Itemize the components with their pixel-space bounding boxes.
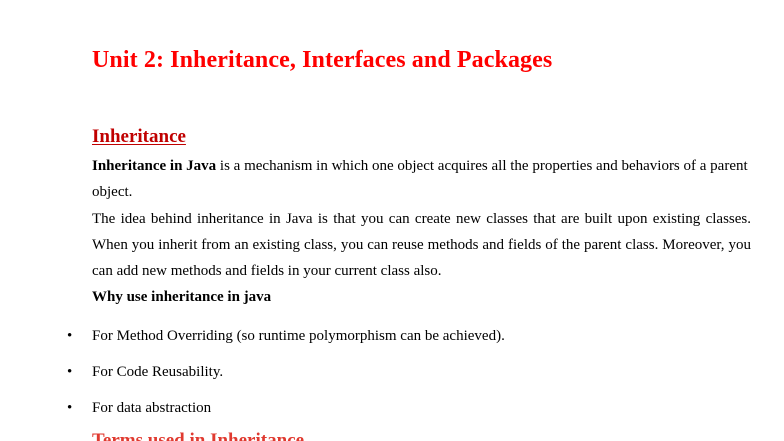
body-text-block: Inheritance in Java is a mechanism in wh…	[92, 153, 751, 311]
section-heading-terms-used-clipped: Terms used in Inheritance	[92, 430, 304, 441]
paragraph-inheritance-definition: Inheritance in Java is a mechanism in wh…	[92, 153, 751, 206]
list-item: • For Method Overriding (so runtime poly…	[0, 325, 784, 361]
page-title: Unit 2: Inheritance, Interfaces and Pack…	[92, 47, 552, 75]
list-item: • For data abstraction	[0, 397, 784, 433]
bullet-icon: •	[67, 361, 72, 383]
subheading-why-use-inheritance: Why use inheritance in java	[92, 284, 751, 310]
list-item-label: For Code Reusability.	[92, 364, 223, 380]
paragraph-bold-lead: Inheritance in Java	[92, 158, 216, 174]
inheritance-benefits-list: • For Method Overriding (so runtime poly…	[0, 325, 784, 433]
paragraph-inheritance-idea: The idea behind inheritance in Java is t…	[92, 206, 751, 285]
bullet-icon: •	[67, 397, 72, 419]
section-heading-inheritance: Inheritance	[92, 126, 186, 149]
list-item-label: For Method Overriding (so runtime polymo…	[92, 328, 505, 344]
bullet-icon: •	[67, 325, 72, 347]
list-item-label: For data abstraction	[92, 400, 211, 416]
list-item: • For Code Reusability.	[0, 361, 784, 397]
document-page: Unit 2: Inheritance, Interfaces and Pack…	[0, 0, 784, 441]
